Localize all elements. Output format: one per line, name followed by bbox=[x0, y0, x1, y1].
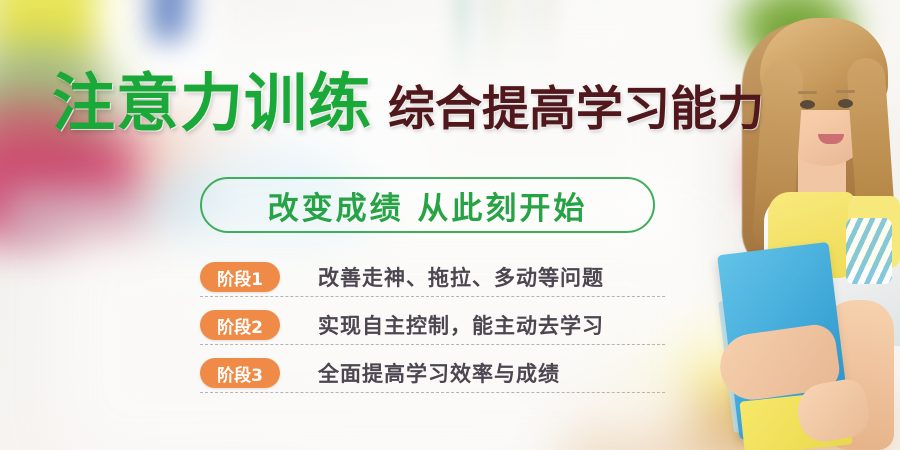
stage-badge: 阶段1 bbox=[200, 262, 280, 292]
stage-badge: 阶段2 bbox=[200, 310, 280, 340]
stage-list: 阶段1 改善走神、拖拉、多动等问题 阶段2 实现自主控制，能主动去学习 阶段3 … bbox=[200, 258, 665, 393]
slogan-text: 改变成绩 从此刻开始 bbox=[268, 183, 588, 228]
attention-training-banner: 注意力训练 综合提高学习能力 改变成绩 从此刻开始 阶段1 改善走神、拖拉、多动… bbox=[0, 0, 900, 450]
stage-row: 阶段2 实现自主控制，能主动去学习 bbox=[200, 306, 665, 345]
stage-description: 改善走神、拖拉、多动等问题 bbox=[318, 262, 604, 292]
stage-row: 阶段3 全面提高学习效率与成绩 bbox=[200, 354, 665, 393]
stage-description: 实现自主控制，能主动去学习 bbox=[318, 310, 604, 340]
stage-description: 全面提高学习效率与成绩 bbox=[318, 358, 560, 388]
stage-badge: 阶段3 bbox=[200, 358, 280, 388]
headline-sub: 综合提高学习能力 bbox=[388, 86, 764, 133]
slogan-pill: 改变成绩 从此刻开始 bbox=[200, 177, 655, 233]
headline-row: 注意力训练 综合提高学习能力 bbox=[52, 72, 764, 135]
headline-main: 注意力训练 bbox=[52, 72, 372, 135]
stage-row: 阶段1 改善走神、拖拉、多动等问题 bbox=[200, 258, 665, 297]
banner-content: 注意力训练 综合提高学习能力 改变成绩 从此刻开始 阶段1 改善走神、拖拉、多动… bbox=[0, 0, 900, 450]
